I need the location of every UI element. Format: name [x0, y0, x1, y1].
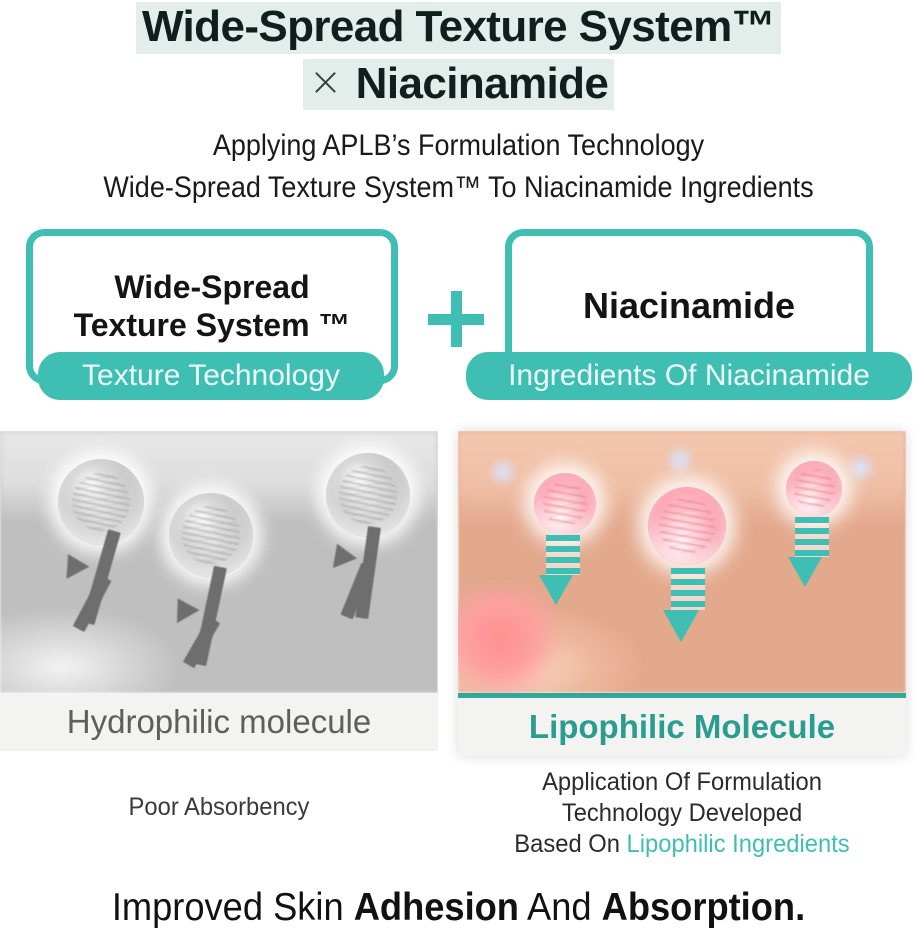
blue-speck-2 — [663, 445, 697, 475]
caption-lipophilic: Lipophilic Molecule — [529, 708, 835, 746]
footer-bold-absorption: Absorption. — [602, 886, 805, 929]
note-right-line1: Application Of Formulation — [542, 768, 822, 796]
title-line-1: Wide-Spread Texture System™ — [0, 2, 917, 54]
arrow-head — [57, 548, 90, 579]
droplet-swirl — [182, 506, 239, 563]
droplet-swirl — [72, 473, 131, 532]
arrow-dashes — [546, 535, 580, 575]
droplet-pink-1 — [534, 473, 596, 535]
concept-left-title-line1: Wide-Spread — [114, 269, 309, 305]
droplet-gray-3 — [326, 453, 410, 537]
title-block: Wide-Spread Texture System™ ×Niacinamide — [0, 0, 917, 110]
footer-bold-adhesion: Adhesion — [354, 886, 519, 929]
footer-tagline: Improved Skin Adhesion And Absorption. — [32, 886, 885, 930]
subtitle-line-2: Wide-Spread Texture System™ To Niacinami… — [46, 169, 871, 207]
droplet-swirl — [794, 469, 834, 509]
title-line-2: ×Niacinamide — [0, 59, 917, 111]
blue-speck-1 — [486, 457, 520, 487]
repelled-arrow-3 — [310, 527, 420, 637]
concept-left-title-line2: Texture System ™ — [74, 307, 351, 343]
title-line-2-text: Niacinamide — [356, 59, 609, 108]
pill-ingredients-of-niacinamide: Ingredients Of Niacinamide — [466, 352, 912, 400]
title-line-2-highlight: ×Niacinamide — [303, 59, 615, 111]
caption-hydrophilic: Hydrophilic molecule — [67, 703, 371, 741]
concept-box-right-title: Niacinamide — [583, 285, 795, 327]
panel-row: Hydrophilic molecule — [0, 431, 917, 761]
droplet-pink-3 — [786, 461, 842, 517]
pill-texture-technology: Texture Technology — [38, 352, 384, 400]
concept-box-row: Wide-Spread Texture System ™ Texture Tec… — [0, 221, 917, 421]
droplet-swirl — [339, 466, 396, 523]
droplet-swirl — [543, 482, 588, 527]
title-line-1-text: Wide-Spread Texture System™ — [136, 2, 781, 54]
note-right-line3-highlight: Lipophilic Ingredients — [627, 830, 850, 858]
footer-part-2: And — [519, 886, 602, 929]
footer-part-1: Improved Skin — [112, 886, 354, 929]
note-poor-absorbency: Poor Absorbency — [11, 793, 427, 822]
panel-hydrophilic: Hydrophilic molecule — [0, 431, 438, 751]
concept-box-left-title: Wide-Spread Texture System ™ — [74, 269, 351, 345]
note-right-line2: Technology Developed — [562, 799, 802, 827]
arrow-head — [166, 592, 199, 623]
lipophilic-caption-bar: Lipophilic Molecule — [458, 698, 906, 756]
droplet-gray-2 — [169, 493, 253, 577]
lipophilic-illustration — [458, 431, 906, 693]
hydrophilic-caption-bar: Hydrophilic molecule — [0, 693, 438, 751]
arrow-dashes — [795, 517, 829, 557]
repelled-arrow-2 — [160, 567, 270, 683]
arrow-head — [539, 575, 573, 605]
absorb-arrow-1 — [546, 535, 580, 617]
panel-lipophilic: Lipophilic Molecule — [458, 431, 906, 756]
arrow-head — [663, 610, 699, 642]
multiply-icon: × — [309, 61, 356, 103]
subtitle-line-1: Applying APLB’s Formulation Technology — [46, 127, 871, 165]
arrow-head — [325, 539, 357, 568]
hydrophilic-illustration — [0, 431, 438, 693]
note-right-line3-prefix: Based On — [514, 830, 626, 858]
absorb-arrow-2 — [671, 568, 705, 656]
blue-speck-3 — [844, 453, 878, 483]
note-lipophilic-technology: Application Of Formulation Technology De… — [469, 767, 895, 860]
subtitle-block: Applying APLB’s Formulation Technology W… — [0, 127, 917, 207]
repelled-arrow-1 — [52, 531, 162, 641]
plus-icon — [428, 291, 484, 347]
absorb-arrow-3 — [795, 517, 829, 599]
droplet-pink-2 — [648, 487, 726, 565]
arrow-head — [788, 557, 822, 587]
droplet-swirl — [659, 498, 715, 554]
arrow-dashes — [671, 568, 705, 610]
notes-row: Poor Absorbency Application Of Formulati… — [0, 771, 917, 881]
